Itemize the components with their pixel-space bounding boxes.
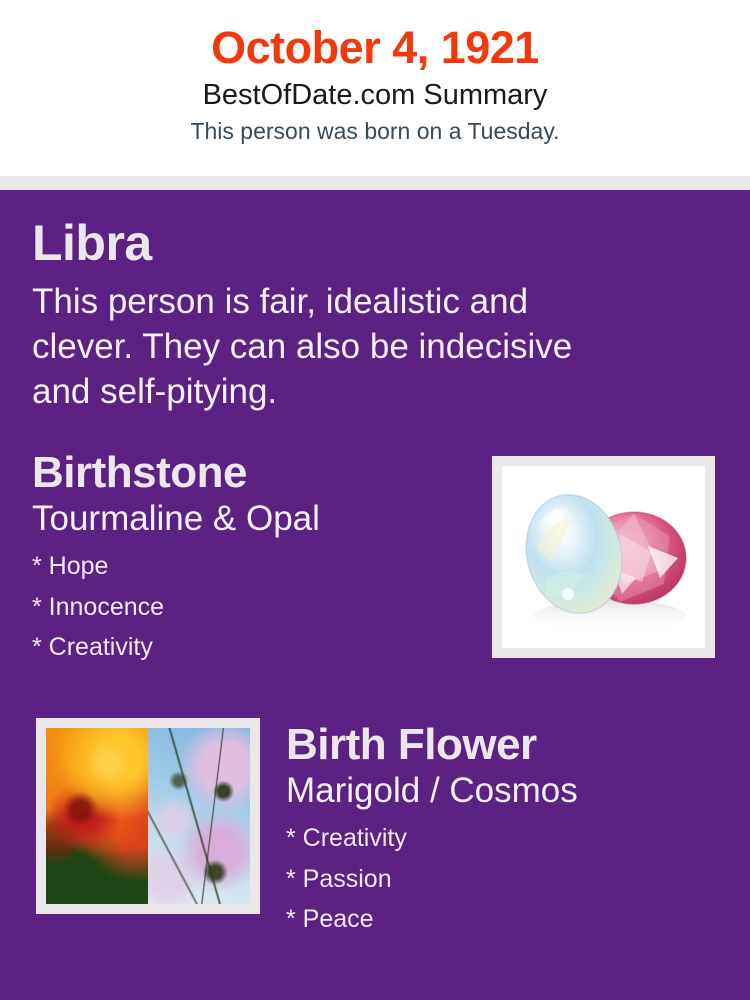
birthflower-title: Birth Flower	[286, 722, 718, 769]
birthflower-section: Birth Flower Marigold / Cosmos * Creativ…	[0, 722, 750, 952]
birthstone-image-frame	[492, 456, 715, 658]
cosmos-photo-half	[148, 728, 250, 904]
marigold-photo-half	[46, 728, 148, 904]
card-header: October 4, 1921 BestOfDate.com Summary T…	[0, 0, 750, 176]
summary-card: October 4, 1921 BestOfDate.com Summary T…	[0, 0, 750, 1000]
header-divider	[0, 176, 750, 190]
page-title-date: October 4, 1921	[0, 22, 750, 74]
birthstone-section: Birthstone Tourmaline & Opal * Hope * In…	[0, 450, 750, 680]
body-panel: Libra This person is fair, idealistic an…	[0, 190, 750, 1000]
zodiac-section: Libra This person is fair, idealistic an…	[0, 190, 750, 414]
list-item: * Creativity	[286, 818, 718, 859]
zodiac-description: This person is fair, idealistic and clev…	[32, 280, 632, 414]
birthflower-names: Marigold / Cosmos	[286, 771, 718, 810]
list-item: * Passion	[286, 859, 718, 900]
birthflower-trait-list: * Creativity * Passion * Peace	[286, 818, 718, 940]
zodiac-sign-name: Libra	[32, 216, 718, 270]
flower-split-composite	[46, 728, 250, 904]
birthstone-image	[502, 466, 705, 648]
weekday-note: This person was born on a Tuesday.	[0, 116, 750, 147]
birthflower-text-block: Birth Flower Marigold / Cosmos * Creativ…	[286, 722, 718, 939]
site-name-subtitle: BestOfDate.com Summary	[0, 76, 750, 115]
gemstone-illustration	[502, 466, 705, 648]
list-item: * Peace	[286, 899, 718, 940]
birthflower-image	[46, 728, 250, 904]
birthflower-image-frame	[36, 718, 260, 914]
